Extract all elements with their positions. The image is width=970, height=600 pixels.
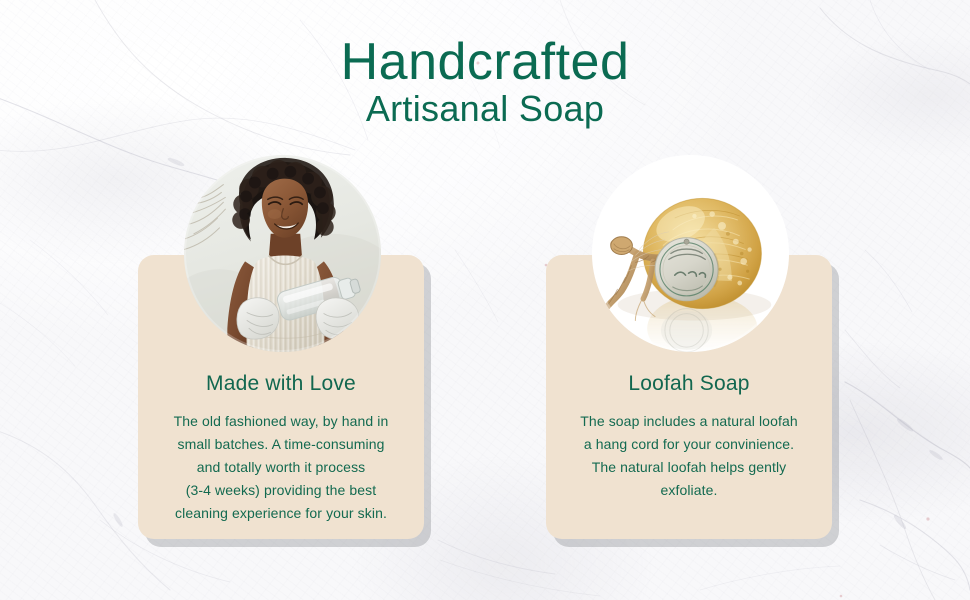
- card-body-line: The soap includes a natural loofah: [556, 410, 822, 433]
- banner-header: Handcrafted Artisanal Soap: [0, 34, 970, 130]
- card-body-line: a hang cord for your convinience.: [556, 433, 822, 456]
- card-body-text: The old fashioned way, by hand in small …: [148, 410, 414, 525]
- loofah-soap-bar-photo: [592, 155, 789, 352]
- card-body-text: The soap includes a natural loofah a han…: [556, 410, 822, 502]
- card-body-line: and totally worth it process: [148, 456, 414, 479]
- card-body-line: The natural loofah helps gently: [556, 456, 822, 479]
- card-body-line: exfoliate.: [556, 479, 822, 502]
- woman-pouring-soap-photo: [184, 155, 381, 352]
- card-body-line: cleaning experience for your skin.: [148, 502, 414, 525]
- card-body-line: small batches. A time-consuming: [148, 433, 414, 456]
- infographic-banner: Handcrafted Artisanal Soap Made with Lov…: [0, 0, 970, 600]
- card-heading: Made with Love: [138, 372, 424, 396]
- card-body-line: (3-4 weeks) providing the best: [148, 479, 414, 502]
- page-title: Handcrafted: [0, 34, 970, 90]
- page-subtitle: Artisanal Soap: [0, 88, 970, 130]
- card-body-line: The old fashioned way, by hand in: [148, 410, 414, 433]
- card-heading: Loofah Soap: [546, 372, 832, 396]
